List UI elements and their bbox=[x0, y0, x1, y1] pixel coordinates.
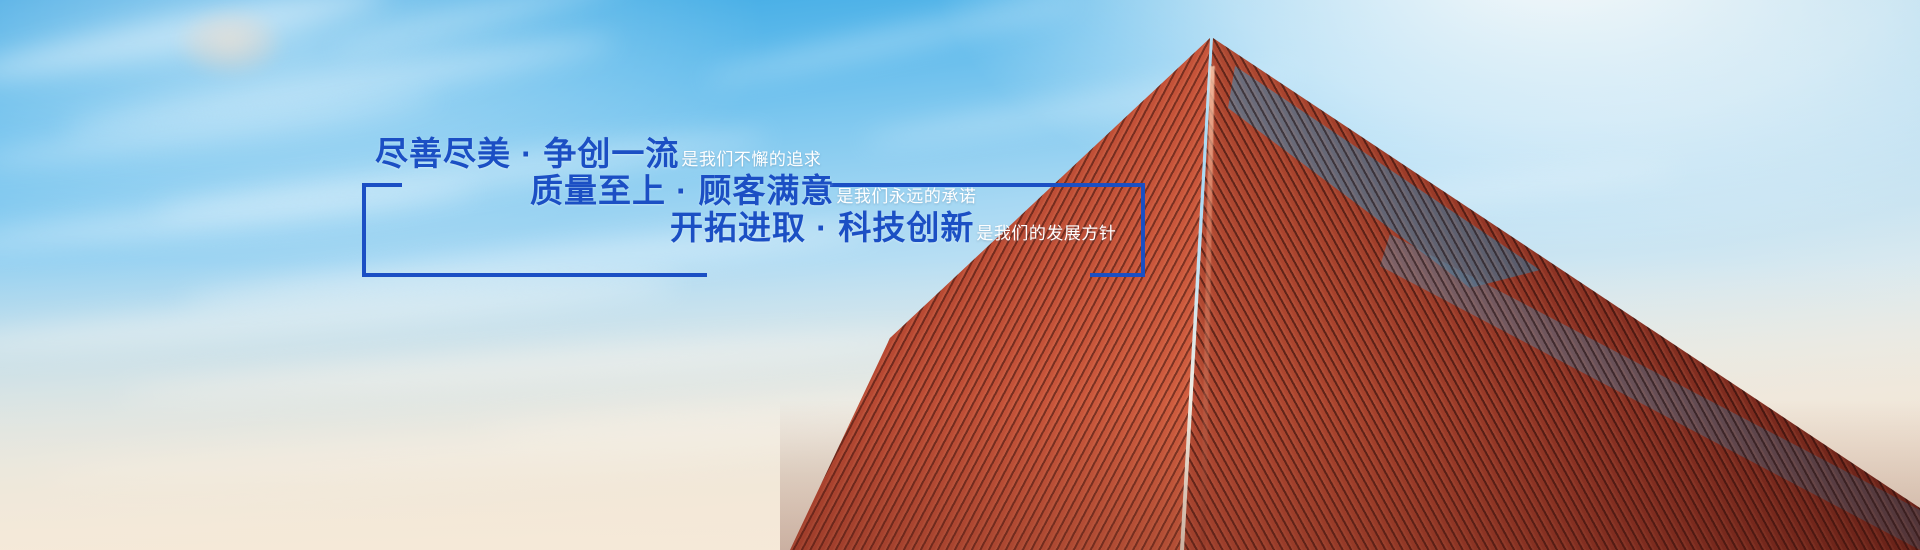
hero-banner: 尽善尽美 · 争创一流 是我们不懈的追求 质量至上 · 顾客满意 是我们永远的承… bbox=[0, 0, 1920, 550]
building-photo bbox=[780, 0, 1920, 550]
lens-flare bbox=[175, 8, 285, 78]
building-faces bbox=[780, 38, 1920, 550]
